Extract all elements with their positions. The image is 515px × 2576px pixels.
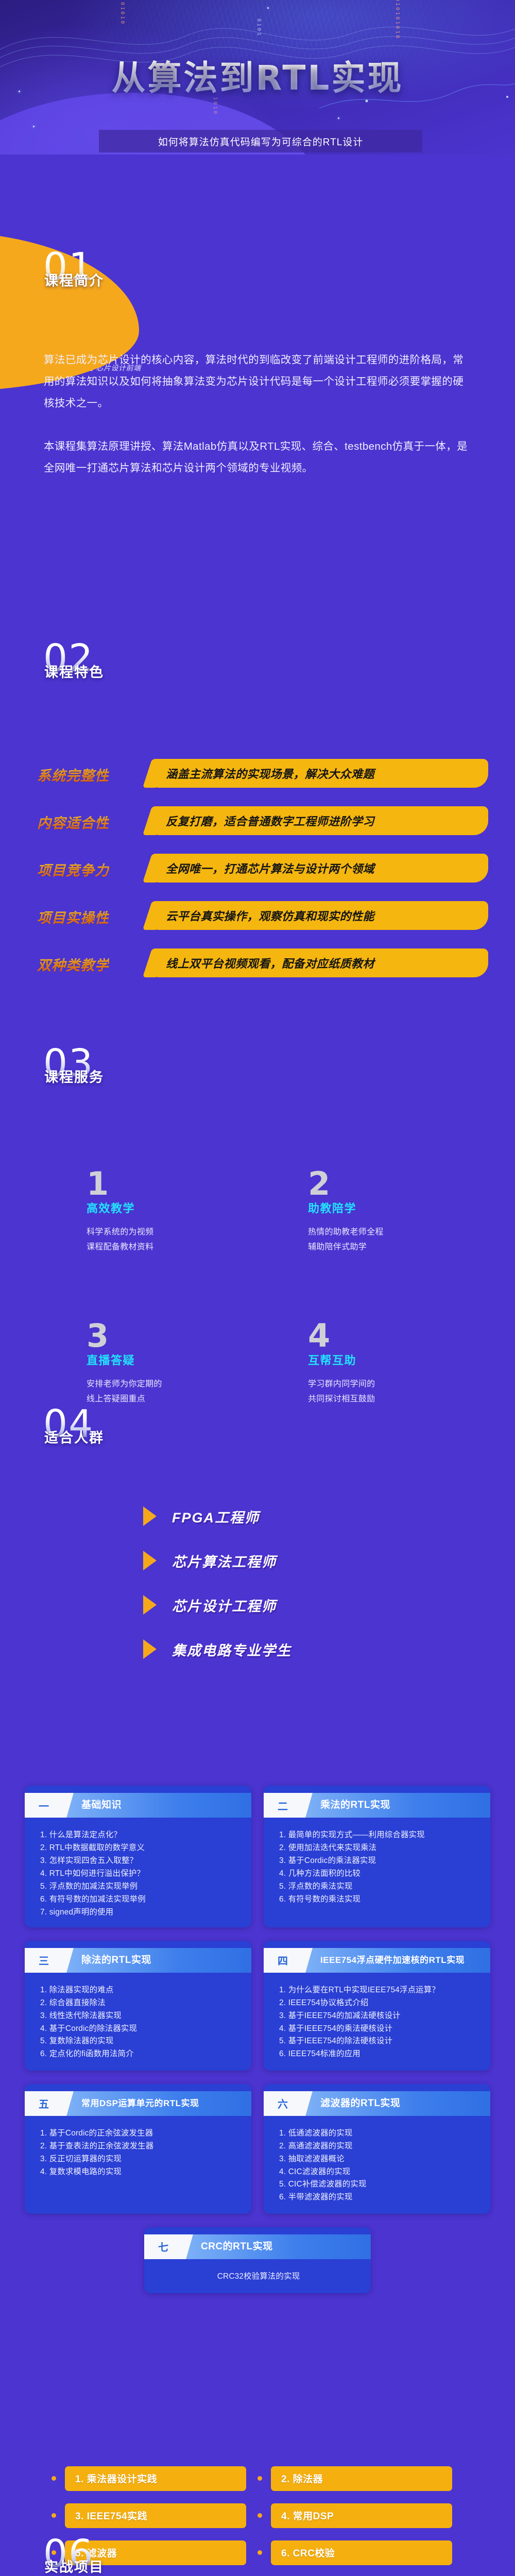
service-item: 4 互帮互助 学习群内同学间的 共同探讨相互鼓励 — [308, 1321, 468, 1406]
project-label: 6. CRC校验 — [271, 2540, 452, 2565]
binary-stream: 01010 — [119, 2, 125, 25]
content-item: 2. 高通滤波器的实现 — [279, 2140, 477, 2153]
service-title: 高效教学 — [87, 1199, 308, 1216]
infographic-page: 01010 0101 010101010 1010 从算法到RTL实现 如何将算… — [0, 0, 515, 2576]
feature-pill: 云平台真实操作，观察仿真和现实的性能 — [153, 901, 488, 930]
content-card-items: 1. 为什么要在RTL中实现IEEE754浮点运算？ 2. IEEE754协议格… — [264, 1973, 490, 2061]
content-item: 5. 浮点数的加减法实现举例 — [40, 1880, 238, 1893]
content-card-items: 1. 除法器实现的难点 2. 综合器直接除法 3. 线性迭代除法器实现 4. 基… — [25, 1973, 251, 2061]
content-item: 3. 基于Cordic的乘法器实现 — [279, 1855, 477, 1868]
section-practice-projects: 06 实战项目 1. 乘法器设计实践 2. 除法器 3. IEEE754实践 4… — [0, 2466, 515, 2576]
content-card-title: 乘法的RTL实现 — [302, 1793, 490, 1818]
section-heading-projects: 06 实战项目 — [0, 2538, 104, 2576]
content-card: 三 除法的RTL实现 1. 除法器实现的难点 2. 综合器直接除法 3. 线性迭… — [25, 1941, 251, 2071]
content-item: 2. 使用加法迭代来实现乘法 — [279, 1842, 477, 1855]
intro-body: 算法已成为芯片设计的核心内容，算法时代的到临改变了前端设计工程师的进阶格局，常用… — [44, 349, 470, 479]
project-label: 1. 乘法器设计实践 — [65, 2466, 246, 2491]
binary-stream: 0101 — [256, 19, 262, 37]
section-title: 课程特色 — [44, 661, 104, 681]
audience-item: 集成电路专业学生 — [143, 1627, 291, 1671]
project-item: 2. 除法器 — [257, 2466, 463, 2491]
section-course-content: 05 课程内容 一 基础知识 1. 什么是算法定点化？ 2. RTL中数据截取的… — [0, 1786, 515, 2314]
audience-label: 芯片算法工程师 — [172, 1551, 277, 1571]
spark-dot — [33, 126, 35, 127]
content-item: 4. CIC滤波器的实现 — [279, 2166, 477, 2179]
content-card: 四 IEEE754浮点硬件加速核的RTL实现 1. 为什么要在RTL中实现IEE… — [264, 1941, 490, 2071]
content-card-title: IEEE754浮点硬件加速核的RTL实现 — [302, 1948, 490, 1973]
content-card: 六 滤波器的RTL实现 1. 低通滤波器的实现 2. 高通滤波器的实现 3. 抽… — [264, 2084, 490, 2214]
content-card-items: CRC32校验算法的实现 — [144, 2259, 371, 2283]
feature-pill: 涵盖主流算法的实现场景，解决大众难题 — [153, 759, 488, 788]
content-card-header: 三 除法的RTL实现 — [25, 1948, 251, 1973]
feature-pill: 线上双平台视频观看，配备对应纸质教材 — [153, 948, 488, 977]
audience-item: 芯片设计工程师 — [143, 1583, 291, 1627]
service-item: 2 助教陪学 热情的助教老师全程 辅助陪伴式助学 — [308, 1170, 468, 1255]
feature-pill: 反复打磨，适合普通数字工程师进阶学习 — [153, 806, 488, 835]
service-index: 3 — [87, 1321, 308, 1350]
content-item: 1. 基于Cordic的正余弦波发生器 — [40, 2127, 238, 2140]
content-card-index: 一 — [25, 1793, 63, 1818]
audience-label: 芯片设计工程师 — [172, 1595, 277, 1615]
section-heading-services: 03 课程服务 — [0, 1048, 104, 1086]
feature-row: 系统完整性 涵盖主流算法的实现场景，解决大众难题 — [0, 757, 515, 805]
content-item: 6. 定点化的fi函数用法简介 — [40, 2048, 238, 2061]
content-card-index: 三 — [25, 1948, 63, 1973]
content-card-header: 五 常用DSP运算单元的RTL实现 — [25, 2091, 251, 2116]
feature-row: 内容适合性 反复打磨，适合普通数字工程师进阶学习 — [0, 805, 515, 852]
content-item: 2. 综合器直接除法 — [40, 1997, 238, 2010]
content-item: 4. 基于Cordic的除法器实现 — [40, 2023, 238, 2036]
bullet-dot-icon — [257, 2513, 262, 2518]
content-card-title: 除法的RTL实现 — [63, 1948, 251, 1973]
section-heading-features: 02 课程特色 — [0, 643, 104, 681]
chevron-right-icon — [143, 1506, 157, 1526]
content-card-index: 六 — [264, 2091, 302, 2116]
content-card-index: 五 — [25, 2091, 63, 2116]
content-item: 4. 基于IEEE754的乘法硬核设计 — [279, 2023, 477, 2036]
service-item: 1 高效教学 科学系统的为视频 课程配备教材资料 — [87, 1170, 308, 1255]
chevron-right-icon — [143, 1595, 157, 1615]
audience-label: FPGA工程师 — [172, 1506, 260, 1527]
section-title: 课程服务 — [44, 1066, 104, 1086]
content-item: 2. RTL中数据截取的数学意义 — [40, 1842, 238, 1855]
content-card-index: 四 — [264, 1948, 302, 1973]
content-item: 3. 基于IEEE754的加减法硬核设计 — [279, 2010, 477, 2023]
section-course-features: 02 课程特色 系统完整性 涵盖主流算法的实现场景，解决大众难题 内容适合性 反… — [0, 582, 515, 1030]
service-description: 科学系统的为视频 课程配备教材资料 — [87, 1225, 308, 1255]
feature-tag: 项目竞争力 — [37, 859, 109, 879]
content-card-items: 1. 最简单的实现方式——利用综合器实现 2. 使用加法迭代来实现乘法 3. 基… — [264, 1818, 490, 1906]
feature-tag: 系统完整性 — [37, 765, 109, 785]
content-card-items: 1. 基于Cordic的正余弦波发生器 2. 基于查表法的正余弦波发生器 3. … — [25, 2116, 251, 2179]
content-item: 3. 线性迭代除法器实现 — [40, 2010, 238, 2023]
feature-tag: 内容适合性 — [37, 812, 109, 832]
project-label: 4. 常用DSP — [271, 2503, 452, 2528]
content-item: 1. 为什么要在RTL中实现IEEE754浮点运算？ — [279, 1984, 477, 1997]
service-description: 热情的助教老师全程 辅助陪伴式助学 — [308, 1225, 468, 1255]
content-item: 3. 怎样实现四舍五入取整？ — [40, 1855, 238, 1868]
content-item: CRC32校验算法的实现 — [160, 2270, 357, 2283]
feature-row: 项目竞争力 全网唯一，打通芯片算法与设计两个领域 — [0, 852, 515, 900]
section-title: 适合人群 — [44, 1427, 104, 1447]
project-label: 3. IEEE754实践 — [65, 2503, 246, 2528]
content-card-header: 一 基础知识 — [25, 1793, 251, 1818]
chevron-right-icon — [143, 1551, 157, 1570]
project-label: 2. 除法器 — [271, 2466, 452, 2491]
content-card-items: 1. 低通滤波器的实现 2. 高通滤波器的实现 3. 抽取滤波器概论 4. CI… — [264, 2116, 490, 2205]
content-card-title: 基础知识 — [63, 1793, 251, 1818]
feature-tag: 双种类教学 — [37, 954, 109, 974]
content-item: 6. 有符号数的乘法实现 — [279, 1893, 477, 1906]
content-card: 七 CRC的RTL实现 CRC32校验算法的实现 — [144, 2227, 371, 2293]
hero-title: 从算法到RTL实现 — [0, 50, 515, 100]
audience-item: FPGA工程师 — [143, 1494, 291, 1538]
content-item: 2. IEEE754协议格式介绍 — [279, 1997, 477, 2010]
content-card-header: 二 乘法的RTL实现 — [264, 1793, 490, 1818]
feature-pill: 全网唯一，打通芯片算法与设计两个领域 — [153, 854, 488, 883]
bullet-dot-icon — [51, 2476, 56, 2481]
content-card: 二 乘法的RTL实现 1. 最简单的实现方式——利用综合器实现 2. 使用加法迭… — [264, 1786, 490, 1927]
service-index: 1 — [87, 1170, 308, 1198]
project-item: 1. 乘法器设计实践 — [51, 2466, 257, 2491]
intro-paragraph: 本课程集算法原理讲授、算法Matlab仿真以及RTL实现、综合、testbenc… — [44, 436, 470, 479]
content-card-index: 二 — [264, 1793, 302, 1818]
spark-dot — [267, 7, 269, 9]
section-title: 实战项目 — [44, 2556, 104, 2576]
hero-subtitle: 如何将算法仿真代码编写为可综合的RTL设计 — [99, 130, 422, 152]
content-card-title: CRC的RTL实现 — [182, 2234, 371, 2259]
service-title: 互帮互助 — [308, 1351, 468, 1368]
content-item: 6. 半带滤波器的实现 — [279, 2191, 477, 2204]
content-card-items: 1. 什么是算法定点化？ 2. RTL中数据截取的数学意义 3. 怎样实现四舍五… — [25, 1818, 251, 1919]
bullet-dot-icon — [257, 2550, 262, 2555]
content-item: 4. 几种方法面积的比较 — [279, 1868, 477, 1880]
service-title: 助教陪学 — [308, 1199, 468, 1216]
project-item: 3. IEEE754实践 — [51, 2503, 257, 2528]
content-card-title: 常用DSP运算单元的RTL实现 — [63, 2091, 251, 2116]
content-item: 6. IEEE754标准的应用 — [279, 2048, 477, 2061]
project-grid: 1. 乘法器设计实践 2. 除法器 3. IEEE754实践 4. 常用DSP … — [51, 2466, 463, 2565]
content-item: 4. RTL中如何进行溢出保护？ — [40, 1868, 238, 1880]
content-card-header: 七 CRC的RTL实现 — [144, 2234, 371, 2259]
audience-label: 集成电路专业学生 — [172, 1639, 291, 1659]
audience-item: 芯片算法工程师 — [143, 1538, 291, 1583]
feature-row: 项目实操性 云平台真实操作，观察仿真和现实的性能 — [0, 900, 515, 947]
binary-stream: 010101010 — [394, 0, 400, 40]
section-heading-intro: 01 课程简介 — [0, 251, 104, 290]
content-card-header: 四 IEEE754浮点硬件加速核的RTL实现 — [264, 1948, 490, 1973]
content-card-title: 滤波器的RTL实现 — [302, 2091, 490, 2116]
bullet-dot-icon — [257, 2476, 262, 2481]
section-course-services: 03 课程服务 1 高效教学 科学系统的为视频 课程配备教材资料 2 助教陪学 … — [0, 1030, 515, 1401]
chevron-right-icon — [143, 1639, 157, 1659]
content-item: 1. 低通滤波器的实现 — [279, 2127, 477, 2140]
section-title: 课程简介 — [44, 269, 104, 290]
content-item: 4. 复数求模电路的实现 — [40, 2166, 238, 2179]
service-title: 直播答疑 — [87, 1351, 308, 1368]
hero-banner: 01010 0101 010101010 1010 从算法到RTL实现 如何将算… — [0, 0, 515, 155]
content-item: 6. 有符号数的加减法实现举例 — [40, 1893, 238, 1906]
service-grid: 1 高效教学 科学系统的为视频 课程配备教材资料 2 助教陪学 热情的助教老师全… — [87, 1170, 468, 1406]
feature-tag: 项目实操性 — [37, 907, 109, 927]
content-item: 5. 浮点数的乘法实现 — [279, 1880, 477, 1893]
feature-list: 系统完整性 涵盖主流算法的实现场景，解决大众难题 内容适合性 反复打磨，适合普通… — [0, 757, 515, 994]
section-heading-audience: 04 适合人群 — [0, 1409, 104, 1447]
content-card-index: 七 — [144, 2234, 182, 2259]
project-item: 6. CRC校验 — [257, 2540, 463, 2565]
intro-paragraph: 算法已成为芯片设计的核心内容，算法时代的到临改变了前端设计工程师的进阶格局，常用… — [44, 349, 470, 414]
content-card-header: 六 滤波器的RTL实现 — [264, 2091, 490, 2116]
service-index: 2 — [308, 1170, 468, 1198]
audience-list: FPGA工程师 芯片算法工程师 芯片设计工程师 集成电路专业学生 — [143, 1494, 291, 1671]
content-item: 1. 最简单的实现方式——利用综合器实现 — [279, 1829, 477, 1842]
bullet-dot-icon — [51, 2513, 56, 2518]
feature-row: 双种类教学 线上双平台视频观看，配备对应纸质教材 — [0, 947, 515, 994]
service-index: 4 — [308, 1321, 468, 1350]
section-target-audience: 04 适合人群 FPGA工程师 芯片算法工程师 芯片设计工程师 集成电路专业学生 — [0, 1401, 515, 1680]
project-item: 4. 常用DSP — [257, 2503, 463, 2528]
service-item: 3 直播答疑 安排老师为你定期的 线上答疑圈重点 — [87, 1321, 308, 1406]
content-card: 一 基础知识 1. 什么是算法定点化？ 2. RTL中数据截取的数学意义 3. … — [25, 1786, 251, 1927]
content-card: 五 常用DSP运算单元的RTL实现 1. 基于Cordic的正余弦波发生器 2.… — [25, 2084, 251, 2214]
content-item: 3. 抽取滤波器概论 — [279, 2153, 477, 2166]
content-item: 1. 什么是算法定点化？ — [40, 1829, 238, 1842]
content-item: 5. 基于IEEE754的除法硬核设计 — [279, 2035, 477, 2048]
content-item: 2. 基于查表法的正余弦波发生器 — [40, 2140, 238, 2153]
content-item: 5. 复数除法器的实现 — [40, 2035, 238, 2048]
spark-dot — [338, 117, 339, 119]
section-course-intro: 课程方向：数字芯片设计前端 01 课程简介 算法已成为芯片设计的核心内容，算法时… — [0, 155, 515, 582]
content-item: 5. CIC补偿滤波器的实现 — [279, 2178, 477, 2191]
content-item: 1. 除法器实现的难点 — [40, 1984, 238, 1997]
content-card-grid: 一 基础知识 1. 什么是算法定点化？ 2. RTL中数据截取的数学意义 3. … — [25, 1786, 490, 2293]
content-item: 3. 反正切运算器的实现 — [40, 2153, 238, 2166]
content-item: 7. signed声明的使用 — [40, 1906, 238, 1919]
